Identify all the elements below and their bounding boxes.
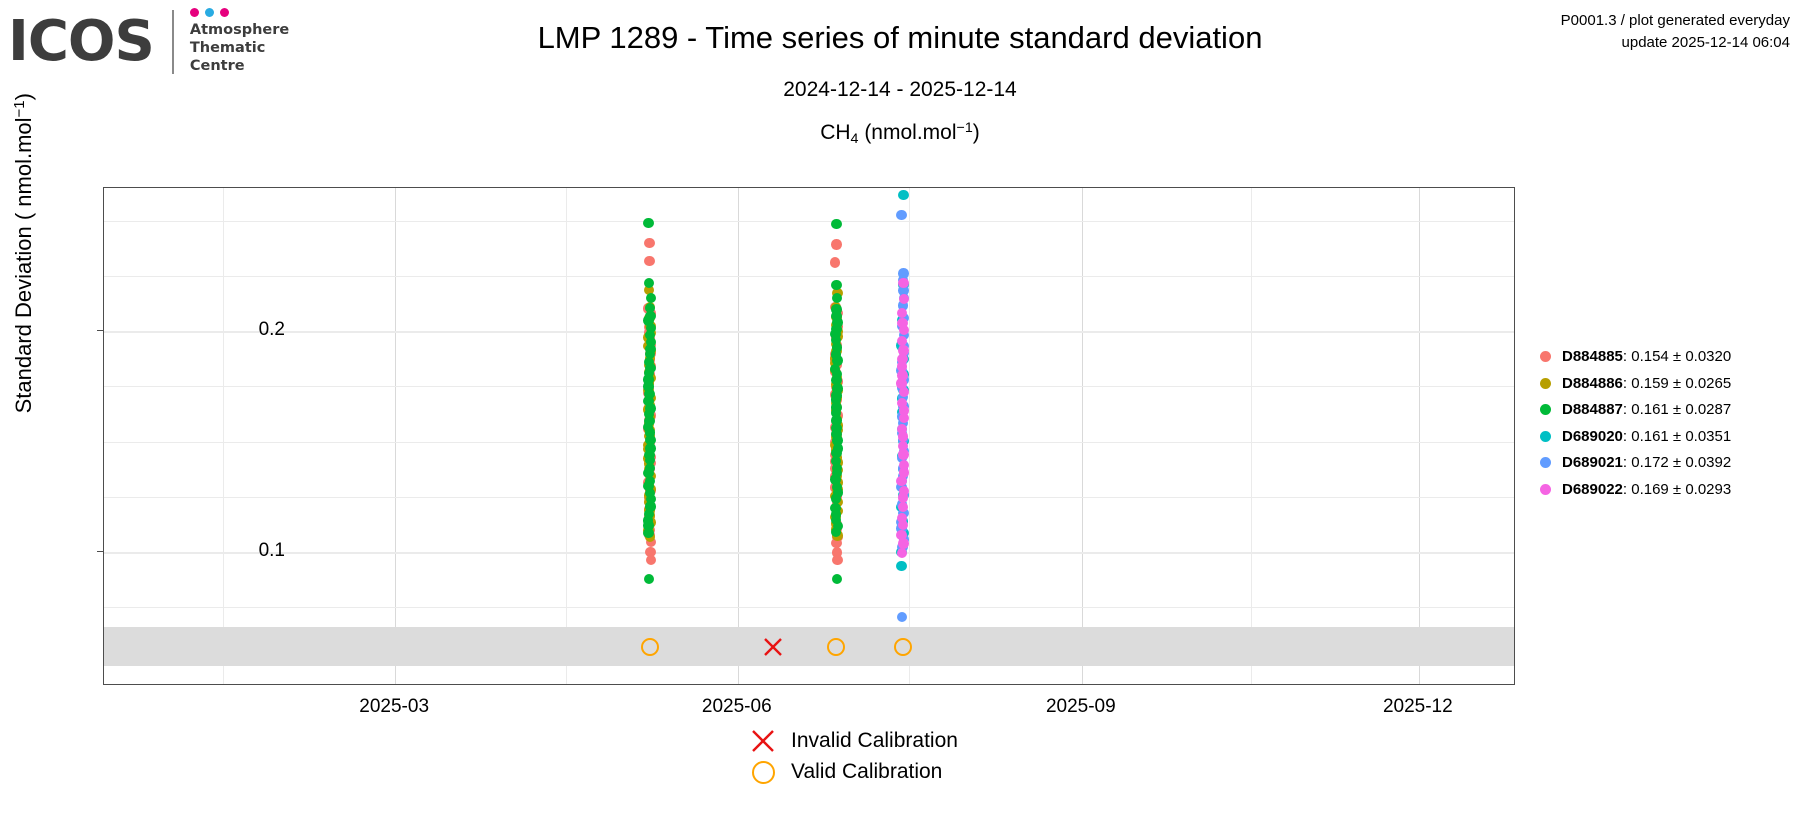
calibration-legend: Invalid Calibration Valid Calibration (0, 728, 1800, 784)
y-gridline-major (104, 552, 1514, 554)
legend-color-swatch (1540, 484, 1551, 495)
y-axis-label-text: Standard Deviation ( nmol.mol (11, 117, 36, 413)
series-legend: D884885: 0.154 ± 0.0320D884886: 0.159 ± … (1540, 348, 1731, 498)
legend-item: D884885: 0.154 ± 0.0320 (1540, 348, 1731, 365)
y-gridline-minor (104, 607, 1514, 608)
legend-series-stats: : 0.161 ± 0.0351 (1623, 428, 1731, 445)
species-name: CH (820, 121, 850, 144)
logo-sub-line-3: Centre (190, 58, 289, 76)
valid-calibration-icon (735, 761, 791, 784)
x-gridline-major (738, 188, 739, 684)
brand-dots (190, 8, 289, 17)
legend-item-invalid-calibration: Invalid Calibration (735, 728, 1065, 754)
x-gridline-minor (223, 188, 224, 684)
scatter-point (832, 555, 842, 565)
legend-item: D884887: 0.161 ± 0.0287 (1540, 401, 1731, 418)
species-unit-open: (nmol.mol (858, 121, 956, 144)
legend-item: D689020: 0.161 ± 0.0351 (1540, 428, 1731, 445)
date-range-subtitle: 2024-12-14 - 2025-12-14 (0, 78, 1800, 102)
valid-calibration-marker (641, 638, 659, 656)
x-tick-label: 2025-06 (702, 696, 772, 718)
y-tick-mark (97, 551, 103, 552)
valid-calibration-marker (827, 638, 845, 656)
y-gridline-minor (104, 221, 1514, 222)
invalid-calibration-label: Invalid Calibration (791, 729, 958, 753)
scatter-point (644, 574, 654, 584)
x-gridline-major (1082, 188, 1083, 684)
scatter-point (644, 238, 654, 248)
y-tick-mark (97, 330, 103, 331)
scatter-point (831, 280, 841, 290)
y-axis-label: Standard Deviation ( nmol.mol−1) (11, 33, 37, 473)
x-gridline-minor (1251, 188, 1252, 684)
y-axis-label-close: ) (11, 93, 36, 100)
scatter-point (898, 449, 908, 459)
legend-series-id: D884886 (1562, 375, 1623, 392)
scatter-point (646, 293, 656, 303)
legend-series-stats: : 0.159 ± 0.0265 (1623, 375, 1731, 392)
scatter-point (896, 561, 906, 571)
brand-dot-pink-right (220, 8, 229, 17)
legend-series-id: D689022 (1562, 481, 1623, 498)
legend-item: D884886: 0.159 ± 0.0265 (1540, 375, 1731, 392)
x-gridline-major (1419, 188, 1420, 684)
plot-page: ICOS Atmosphere Thematic Centre P0001.3 … (0, 0, 1800, 825)
legend-color-swatch (1540, 404, 1551, 415)
valid-calibration-marker (894, 638, 912, 656)
x-tick-label: 2025-12 (1383, 696, 1453, 718)
legend-series-stats: : 0.169 ± 0.0293 (1623, 481, 1731, 498)
scatter-point (644, 256, 654, 266)
legend-color-swatch (1540, 457, 1551, 468)
legend-series-stats: : 0.161 ± 0.0287 (1623, 401, 1731, 418)
y-gridline-minor (104, 276, 1514, 277)
species-subtitle: CH4 (nmol.mol−1) (0, 120, 1800, 147)
x-gridline-minor (566, 188, 567, 684)
brand-dot-blue (205, 8, 214, 17)
scatter-point (832, 293, 842, 303)
legend-color-swatch (1540, 351, 1551, 362)
invalid-calibration-icon (735, 728, 791, 754)
scatter-point (643, 528, 653, 538)
scatter-point (897, 548, 907, 558)
legend-color-swatch (1540, 431, 1551, 442)
scatter-point (831, 239, 841, 249)
scatter-point (898, 278, 908, 288)
legend-series-stats: : 0.154 ± 0.0320 (1623, 348, 1731, 365)
species-unit-exponent: −1 (957, 120, 973, 136)
calibration-band (104, 627, 1514, 667)
brand-dot-pink-left (190, 8, 199, 17)
y-gridline-minor (104, 497, 1514, 498)
legend-item: D689021: 0.172 ± 0.0392 (1540, 454, 1731, 471)
x-tick-label: 2025-03 (359, 696, 429, 718)
legend-series-id: D884885 (1562, 348, 1623, 365)
y-tick-label: 0.1 (259, 540, 285, 562)
y-tick-label: 0.2 (259, 319, 285, 341)
scatter-point (896, 476, 906, 486)
scatter-point (646, 555, 656, 565)
scatter-point (897, 612, 907, 622)
chart-panel (103, 187, 1515, 685)
legend-series-id: D884887 (1562, 401, 1623, 418)
y-axis-label-exponent: −1 (11, 100, 28, 117)
invalid-calibration-marker (763, 637, 783, 662)
legend-series-stats: : 0.172 ± 0.0392 (1623, 454, 1731, 471)
scatter-point (643, 218, 653, 228)
scatter-point (832, 574, 842, 584)
legend-series-id: D689020 (1562, 428, 1623, 445)
x-tick-label: 2025-09 (1046, 696, 1116, 718)
legend-item: D689022: 0.169 ± 0.0293 (1540, 481, 1731, 498)
scatter-point (830, 257, 840, 267)
legend-color-swatch (1540, 378, 1551, 389)
scatter-point (898, 538, 908, 548)
scatter-point (896, 210, 906, 220)
legend-item-valid-calibration: Valid Calibration (735, 760, 1065, 784)
page-title: LMP 1289 - Time series of minute standar… (0, 20, 1800, 56)
x-gridline-major (395, 188, 396, 684)
y-gridline-major (104, 331, 1514, 333)
y-gridline-minor (104, 442, 1514, 443)
species-unit-close: ) (973, 121, 980, 144)
valid-calibration-label: Valid Calibration (791, 760, 942, 784)
scatter-point (831, 219, 841, 229)
scatter-point (898, 190, 908, 200)
y-gridline-minor (104, 386, 1514, 387)
x-gridline-minor (909, 188, 910, 684)
legend-series-id: D689021 (1562, 454, 1623, 471)
